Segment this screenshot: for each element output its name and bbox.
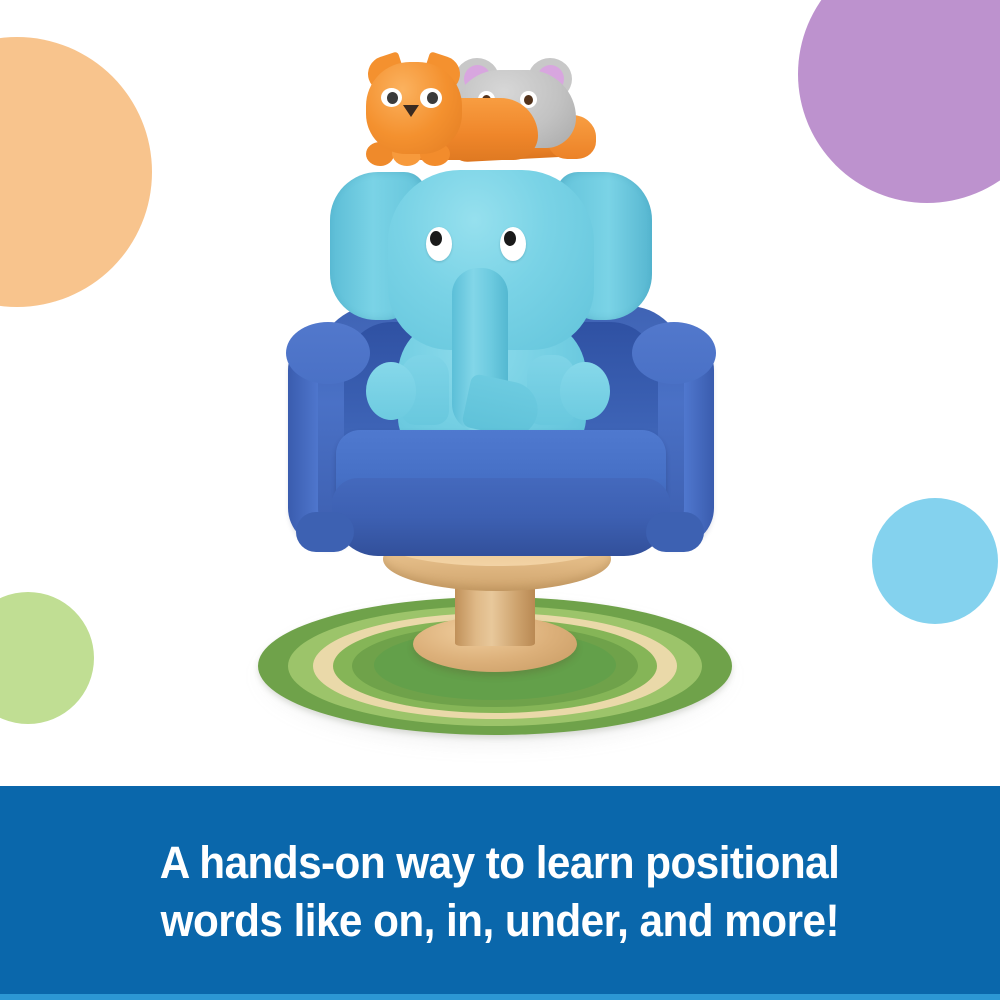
mouse-right-pupil [524, 95, 533, 105]
cat-right-pupil [427, 92, 438, 104]
cat-left-pupil [387, 92, 398, 104]
armchair-base-skirt [332, 478, 670, 556]
product-image-canvas: A hands-on way to learn positional words… [0, 0, 1000, 1000]
armchair-left-arm-top [286, 322, 370, 384]
armchair-right-arm-top [632, 322, 716, 384]
banner-accent-strip [0, 994, 1000, 1000]
product-photo [0, 0, 1000, 786]
elephant-left-paw [366, 362, 416, 420]
caption-line-2: words like on, in, under, and more! [161, 892, 839, 950]
caption-line-1: A hands-on way to learn positional [160, 834, 840, 892]
cat-nose [403, 105, 419, 117]
armchair-left-foot [296, 512, 354, 552]
elephant-right-pupil [504, 231, 516, 246]
elephant-right-paw [560, 362, 610, 420]
armchair-right-foot [646, 512, 704, 552]
caption-banner: A hands-on way to learn positional words… [0, 786, 1000, 998]
elephant-left-pupil [430, 231, 442, 246]
